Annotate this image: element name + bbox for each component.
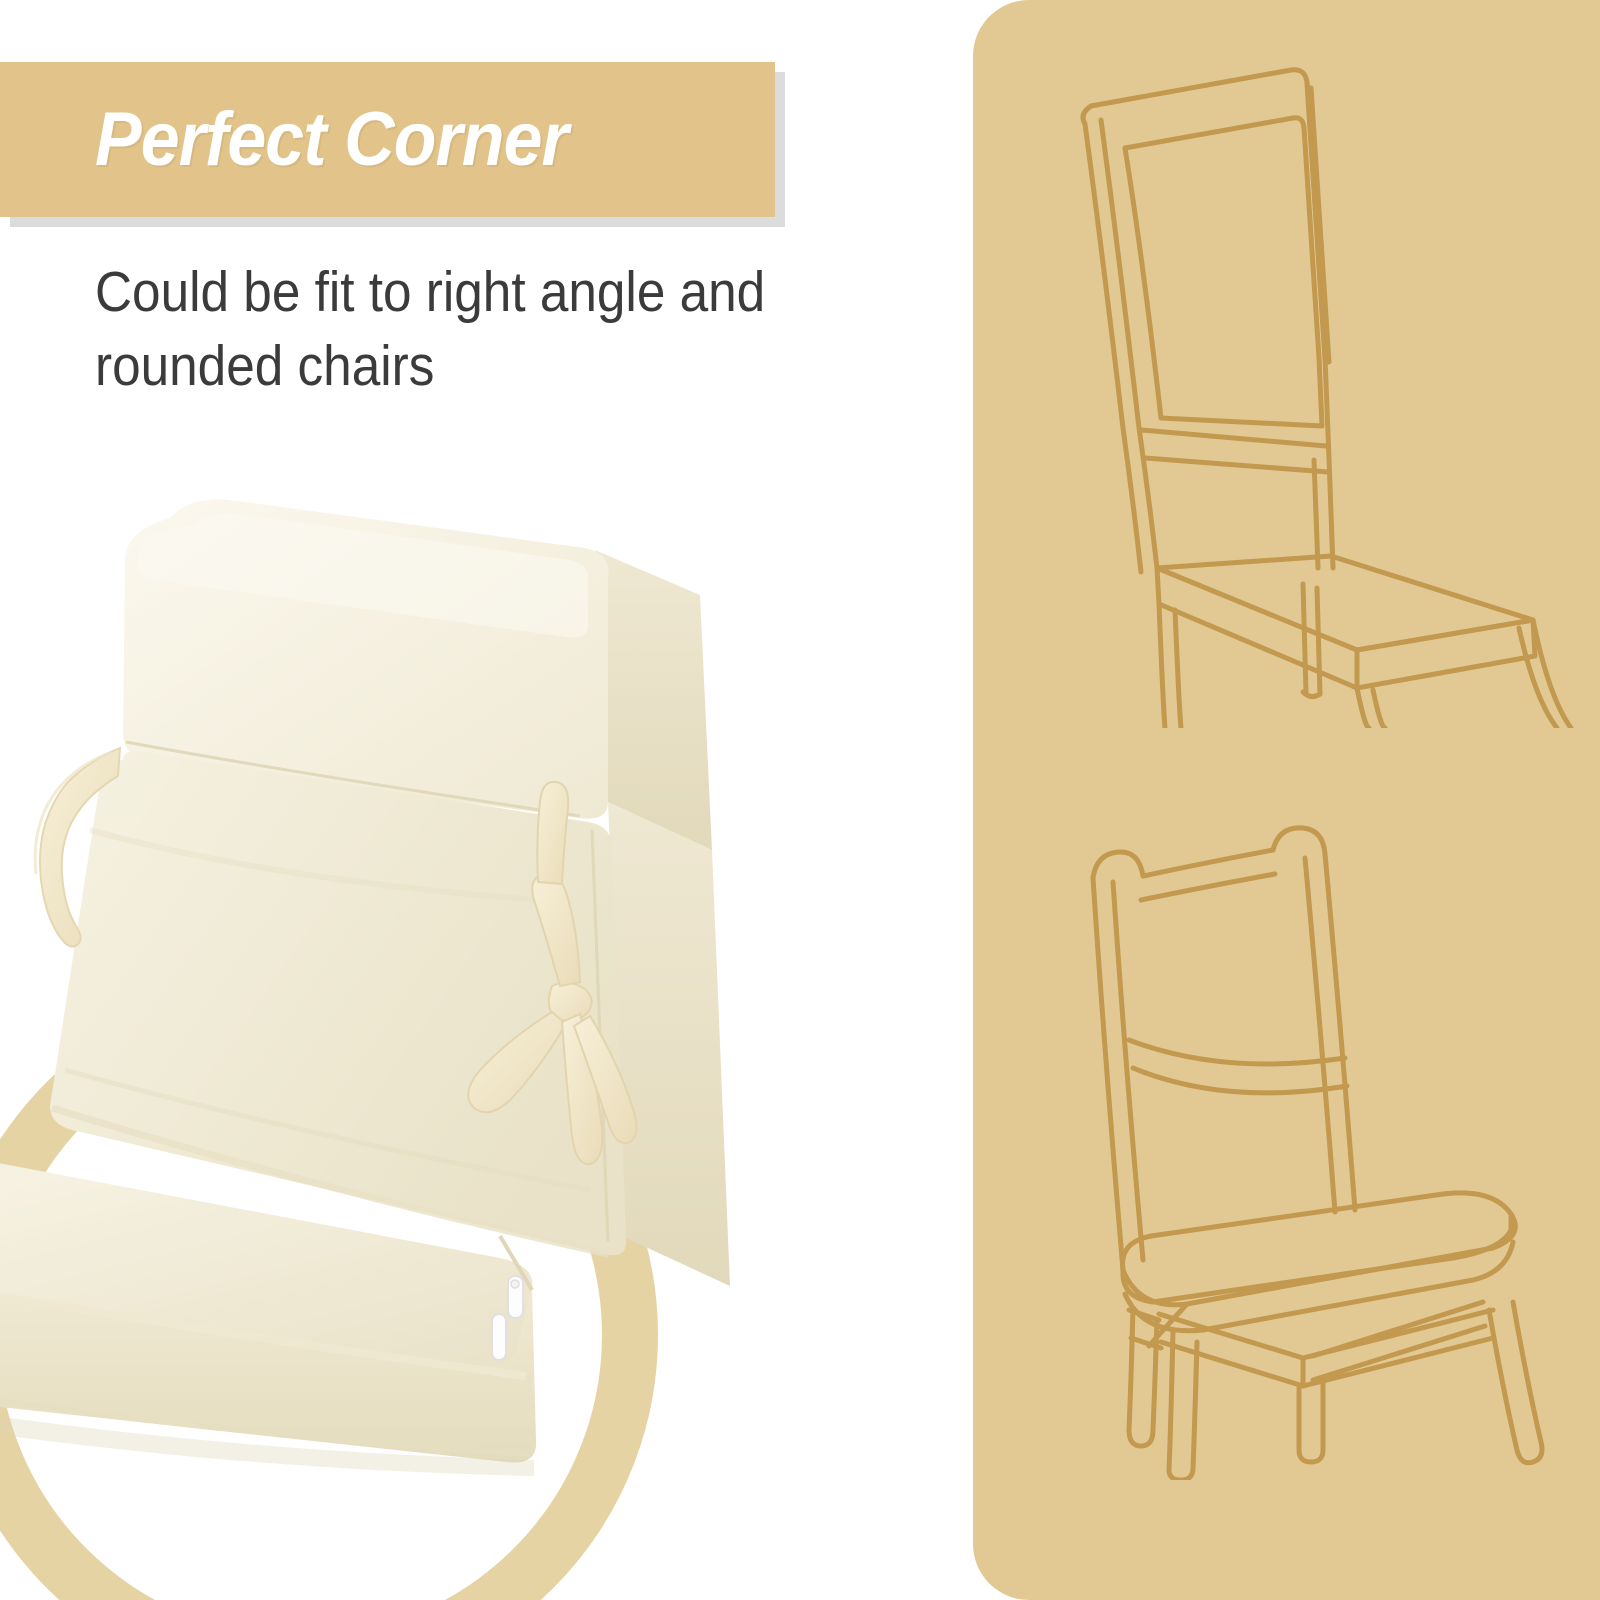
infographic-canvas: Perfect Corner Could be fit to right ang… bbox=[0, 0, 1600, 1600]
title-banner: Perfect Corner bbox=[0, 62, 775, 217]
subtitle-text: Could be fit to right angle and rounded … bbox=[95, 255, 842, 403]
chair-round-corner-illustration bbox=[973, 790, 1600, 1480]
page-title: Perfect Corner bbox=[95, 96, 568, 183]
chair-right-angle-illustration bbox=[973, 28, 1600, 728]
chair-types-panel: Right angle chair bbox=[973, 0, 1600, 1600]
product-photo bbox=[0, 430, 960, 1600]
